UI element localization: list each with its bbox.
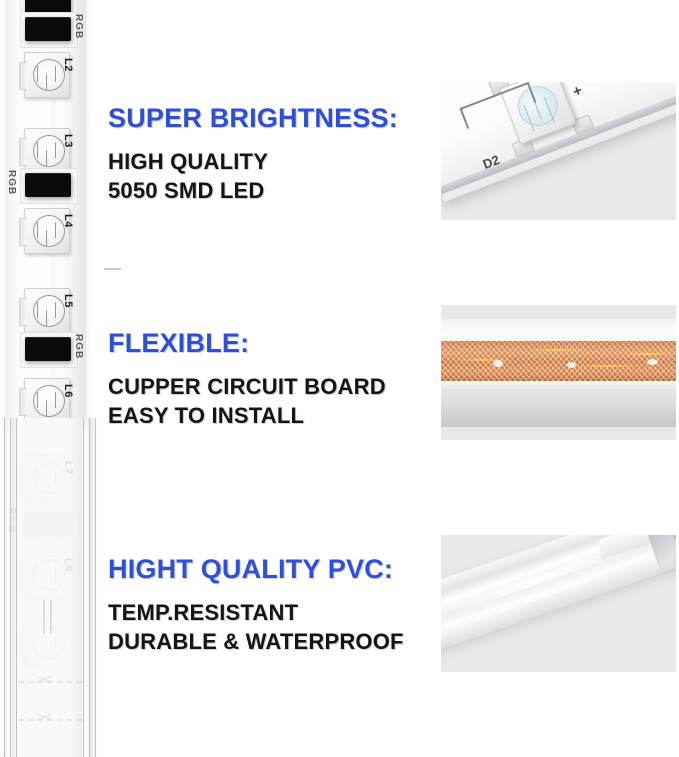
led-anode-tab: [19, 62, 27, 90]
photo-pvc-sleeve: [441, 535, 676, 672]
copper-streak: [623, 353, 671, 355]
copper-streak: [531, 349, 585, 351]
silk-label-l4: L4: [62, 214, 74, 228]
copper-streak: [575, 365, 641, 367]
pvc-sleeve-body: [441, 535, 676, 653]
infographic-page: RGB L2 L3 RGB L4 L5 RGB L: [0, 0, 679, 757]
feature-heading: SUPER BRIGHTNESS:: [108, 103, 398, 134]
feature-line: 5050 SMD LED: [108, 176, 398, 205]
silk-label-l6: L6: [62, 384, 74, 398]
divider-artifact: [104, 268, 121, 270]
pvc-sleeve-overlay: [0, 418, 100, 757]
silk-label-l5: L5: [62, 294, 74, 308]
feature-line: EASY TO INSTALL: [108, 401, 386, 430]
silk-label-rgb: RGB: [73, 14, 84, 39]
pvc-ridge: [83, 418, 84, 757]
copper-speck: [567, 362, 576, 368]
silk-label-l2: L2: [62, 58, 74, 72]
led-anode-tab: [19, 298, 27, 326]
feature-block-flexible: FLEXIBLE: CUPPER CIRCUIT BOARD EASY TO I…: [108, 328, 386, 430]
led-anode-tab: [19, 218, 27, 246]
feature-heading: FLEXIBLE:: [108, 328, 386, 359]
led-anode-tab: [19, 138, 27, 166]
rgb-driver-chip: [25, 173, 71, 197]
pvc-ridge: [4, 418, 5, 757]
photo-smd-led: R11 D2 +: [441, 82, 676, 220]
led-strip-column: RGB L2 L3 RGB L4 L5 RGB L: [0, 0, 100, 757]
feature-block-pvc: HIGHT QUALITY PVC: TEMP.RESISTANT DURABL…: [108, 554, 404, 656]
pvc-ridge: [10, 418, 11, 757]
copper-speck: [647, 359, 658, 365]
silk-label-plus: +: [570, 82, 584, 101]
rgb-driver-chip: [25, 337, 71, 361]
tube-gloss-lower: [441, 381, 676, 391]
silk-label-rgb: RGB: [6, 170, 17, 195]
feature-line: DURABLE & WATERPROOF: [108, 627, 404, 656]
copper-circuit-board: [441, 341, 676, 381]
feature-heading: HIGHT QUALITY PVC:: [108, 554, 404, 585]
pcb-substrate: R11 D2 +: [441, 82, 676, 202]
pvc-ridge: [95, 418, 96, 757]
photo-copper-board: [441, 305, 676, 440]
feature-line: CUPPER CIRCUIT BOARD: [108, 372, 386, 401]
silk-label-rgb: RGB: [73, 334, 84, 359]
copper-speck: [493, 360, 503, 367]
feature-line: TEMP.RESISTANT: [108, 598, 404, 627]
pvc-ridge: [89, 418, 90, 757]
copper-streak: [453, 359, 513, 361]
silk-label-l3: L3: [62, 134, 74, 148]
rgb-driver-chip: [25, 17, 71, 41]
pvc-ridge: [16, 418, 17, 757]
led-anode-tab: [19, 388, 27, 416]
feature-block-brightness: SUPER BRIGHTNESS: HIGH QUALITY 5050 SMD …: [108, 103, 398, 205]
feature-line: HIGH QUALITY: [108, 147, 398, 176]
